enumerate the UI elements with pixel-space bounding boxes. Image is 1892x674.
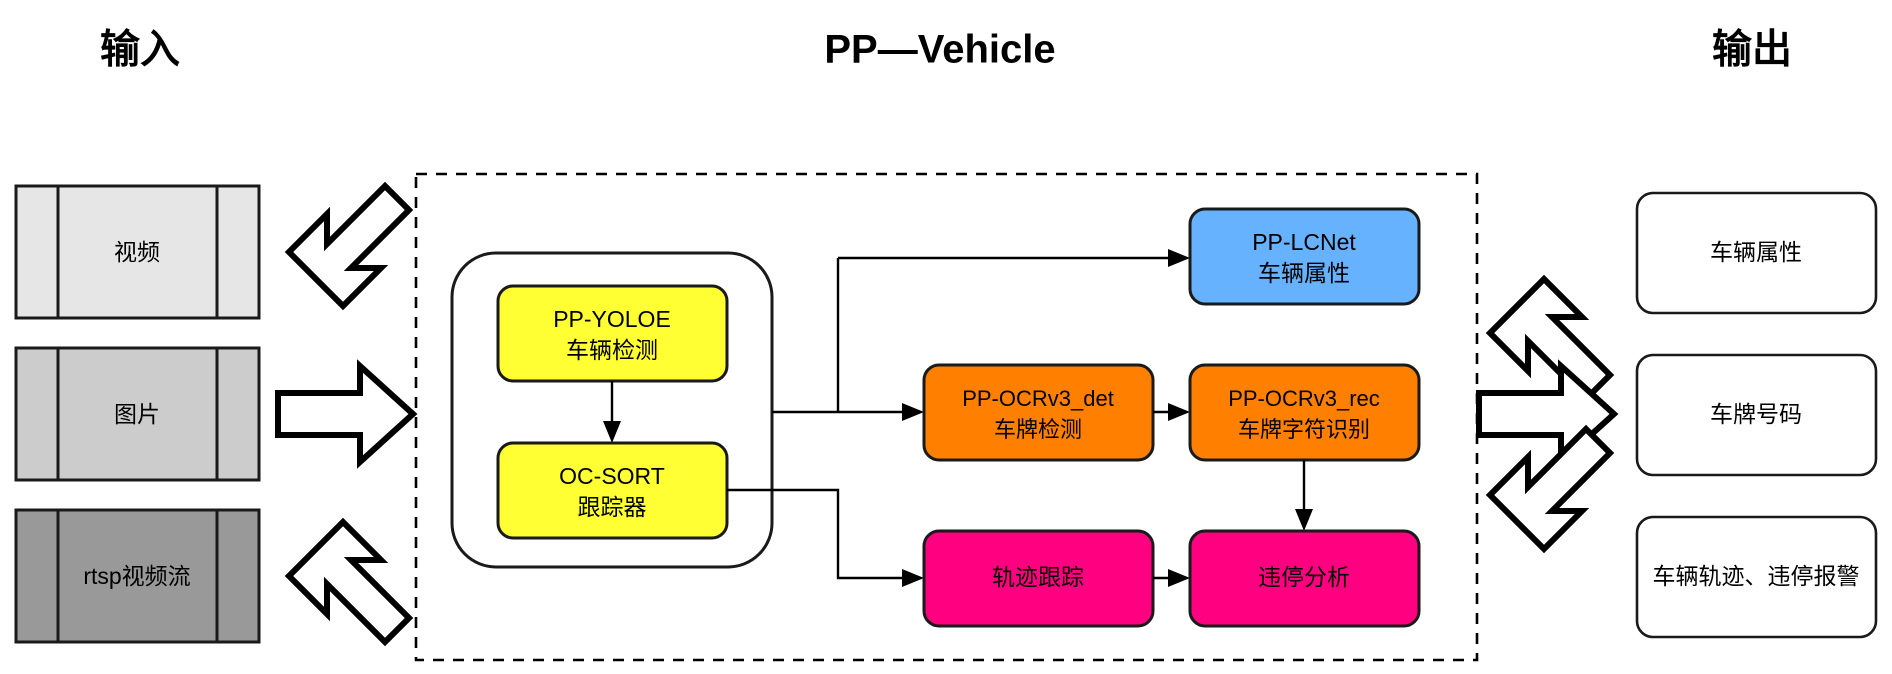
- input-node-video[interactable]: 视频: [16, 186, 259, 318]
- output-node-trajectory-alarm[interactable]: 车辆轨迹、违停报警: [1637, 517, 1876, 637]
- output-node-plate-number[interactable]: 车牌号码: [1637, 355, 1876, 475]
- output-node-vehicle-attributes[interactable]: 车辆属性: [1637, 193, 1876, 313]
- arrow-up-right-icon-output: [1490, 279, 1610, 399]
- page-title-input: 输入: [100, 28, 180, 72]
- connector-track-to-illegal: [1153, 569, 1190, 587]
- pipeline-node-track-line1: 轨迹跟踪: [992, 564, 1084, 590]
- output-node-plate-number-label: 车牌号码: [1710, 401, 1802, 427]
- pipeline-node-lcnet-line1: PP-LCNet: [1252, 229, 1356, 255]
- pipeline-node-ocr-rec[interactable]: PP-OCRv3_rec 车牌字符识别: [1190, 365, 1419, 460]
- connector-ocrrec-to-illegal: [1295, 460, 1313, 531]
- pipeline-node-ocr-det-shape: [924, 365, 1153, 460]
- arrow-down-right-icon-output: [1490, 429, 1610, 549]
- page-title-center: PP—Vehicle: [824, 28, 1055, 72]
- output-node-vehicle-attributes-label: 车辆属性: [1710, 239, 1802, 265]
- output-node-trajectory-alarm-label: 车辆轨迹、违停报警: [1653, 563, 1860, 589]
- input-node-image[interactable]: 图片: [16, 348, 259, 480]
- pipeline-node-lcnet[interactable]: PP-LCNet 车辆属性: [1190, 209, 1419, 304]
- input-node-rtsp-label: rtsp视频流: [83, 563, 190, 589]
- pipeline-node-lcnet-line2: 车辆属性: [1258, 260, 1350, 286]
- pipeline-node-lcnet-shape: [1190, 209, 1419, 304]
- connector-ocrdet-to-ocrrec: [1153, 403, 1190, 421]
- input-node-rtsp[interactable]: rtsp视频流: [16, 510, 259, 642]
- input-node-video-label: 视频: [114, 239, 160, 265]
- pipeline-node-yoloe[interactable]: PP-YOLOE 车辆检测: [498, 286, 727, 381]
- arrow-down-right-icon-input: [289, 186, 409, 306]
- pipeline-node-ocr-det-line2: 车牌检测: [994, 417, 1082, 442]
- pipeline-node-ocsort-line2: 跟踪器: [578, 494, 647, 520]
- pipeline-node-illegal-parking-line1: 违停分析: [1258, 564, 1350, 590]
- arrow-right-icon-input: [278, 366, 413, 462]
- input-node-image-label: 图片: [114, 401, 160, 427]
- pipeline-node-ocr-det[interactable]: PP-OCRv3_det 车牌检测: [924, 365, 1153, 460]
- page-title-output: 输出: [1712, 28, 1792, 72]
- arrow-up-right-icon-input: [289, 522, 409, 642]
- pipeline-node-ocsort-shape: [498, 443, 727, 538]
- pipeline-node-ocr-rec-line2: 车牌字符识别: [1238, 417, 1370, 442]
- pipeline-node-ocr-rec-line1: PP-OCRv3_rec: [1228, 386, 1380, 411]
- pipeline-node-yoloe-line1: PP-YOLOE: [553, 306, 671, 332]
- pipeline-node-illegal-parking[interactable]: 违停分析: [1190, 531, 1419, 626]
- pp-vehicle-architecture-diagram: 输入 PP—Vehicle 输出 视频 图片 rtsp视频流 PP-YOLOE …: [0, 0, 1892, 674]
- pipeline-node-ocr-rec-shape: [1190, 365, 1419, 460]
- pipeline-node-track[interactable]: 轨迹跟踪: [924, 531, 1153, 626]
- pipeline-node-ocr-det-line1: PP-OCRv3_det: [962, 386, 1114, 411]
- pipeline-node-yoloe-shape: [498, 286, 727, 381]
- pipeline-node-ocsort[interactable]: OC-SORT 跟踪器: [498, 443, 727, 538]
- pipeline-node-yoloe-line2: 车辆检测: [566, 337, 658, 363]
- diagram-root: 输入 PP—Vehicle 输出 视频 图片 rtsp视频流 PP-YOLOE …: [0, 0, 1892, 674]
- pipeline-node-ocsort-line1: OC-SORT: [559, 463, 665, 489]
